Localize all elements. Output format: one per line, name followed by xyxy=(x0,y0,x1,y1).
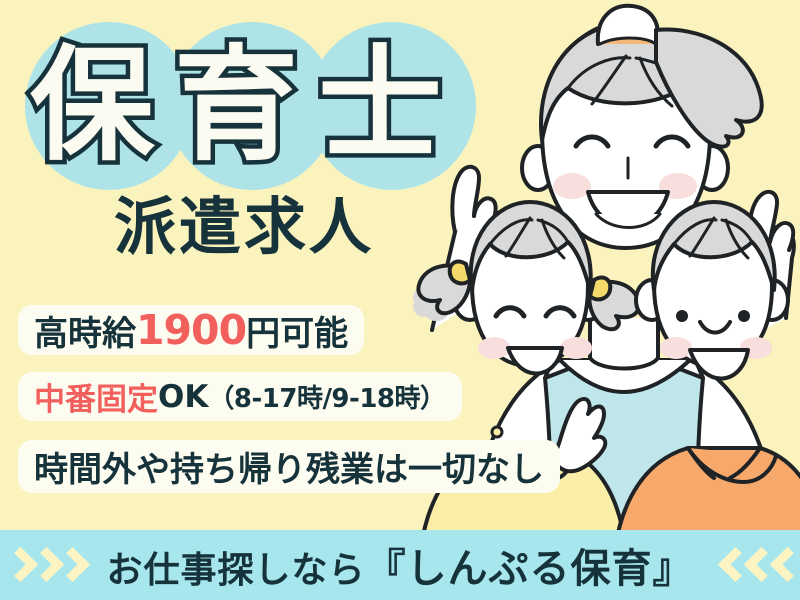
chevron-right-icon xyxy=(58,548,80,582)
bottom-banner: お仕事探しなら『しんぷる保育』 xyxy=(0,530,800,600)
page-subtitle: 派遣求人 xyxy=(114,196,374,258)
banner-lead-text: お仕事探しなら xyxy=(106,550,365,591)
chevron-right-icon xyxy=(6,548,28,582)
banner-close-quote: 』 xyxy=(653,546,694,592)
shift-hours-note: （8-17時/9-18時） xyxy=(208,378,445,415)
chevron-left-icon xyxy=(772,548,794,582)
wage-suffix: 円可能 xyxy=(246,306,348,355)
wage-amount: 1900 xyxy=(136,306,246,354)
chevron-left-icon xyxy=(746,548,768,582)
headline-char-1: 保 xyxy=(30,44,156,168)
banner-tagline: お仕事探しなら『しんぷる保育』 xyxy=(106,536,693,594)
headline-char-3: 士 xyxy=(318,44,444,168)
feature-pill-shift: 中番固定OK（8-17時/9-18時） xyxy=(18,372,462,421)
feature-pill-wage: 高時給1900円可能 xyxy=(18,305,364,355)
brand-name: しんぷる保育 xyxy=(407,546,653,592)
chevron-left-icon xyxy=(720,548,742,582)
page-title: 保 育 士 xyxy=(30,36,490,176)
banner-open-quote: 『 xyxy=(366,546,407,592)
shift-suffix: OK xyxy=(158,379,208,415)
poster-root: 保 育 士 派遣求人 高時給1900円可能 中番固定OK（8-17時/9-18時… xyxy=(0,0,800,600)
chevron-right-icon xyxy=(32,548,54,582)
shift-highlight: 中番固定 xyxy=(34,374,158,419)
right-chevron-group xyxy=(720,548,794,582)
overtime-text: 時間外や持ち帰り残業は一切なし xyxy=(34,442,544,491)
feature-pill-overtime: 時間外や持ち帰り残業は一切なし xyxy=(18,440,560,493)
headline-char-2: 育 xyxy=(174,44,300,168)
left-chevron-group xyxy=(6,548,80,582)
wage-prefix: 高時給 xyxy=(34,306,136,355)
